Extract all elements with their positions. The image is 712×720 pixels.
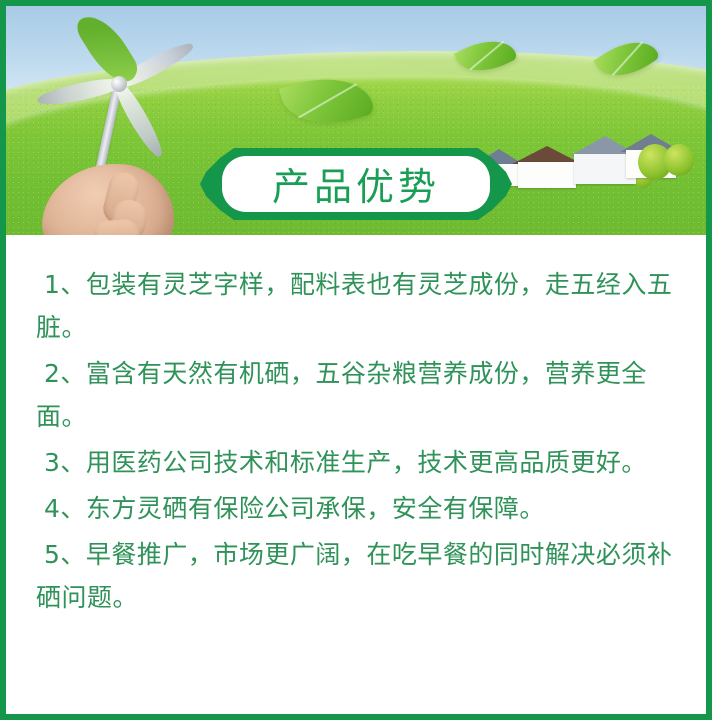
hero-banner: 产品优势 xyxy=(6,6,706,235)
list-item: 4、东方灵硒有保险公司承保，安全有保障。 xyxy=(36,487,676,530)
list-item: 3、用医药公司技术和标准生产，技术更高品质更好。 xyxy=(36,441,676,484)
advantages-list: 1、包装有灵芝字样，配料表也有灵芝成份，走五经入五脏。 2、富含有天然有机硒，五… xyxy=(6,235,706,619)
product-advantages-page: 产品优势 1、包装有灵芝字样，配料表也有灵芝成份，走五经入五脏。 2、富含有天然… xyxy=(0,0,712,720)
list-item: 5、早餐推广，市场更广阔，在吃早餐的同时解决必须补硒问题。 xyxy=(36,533,676,619)
house-icon xyxy=(518,162,576,188)
tree-icon xyxy=(664,144,694,176)
pinwheel-hub xyxy=(111,76,127,92)
title-ribbon: 产品优势 xyxy=(196,144,516,224)
list-item: 1、包装有灵芝字样，配料表也有灵芝成份，走五经入五脏。 xyxy=(36,263,676,349)
list-item: 2、富含有天然有机硒，五谷杂粮营养成份，营养更全面。 xyxy=(36,352,676,438)
page-title: 产品优势 xyxy=(196,144,516,224)
